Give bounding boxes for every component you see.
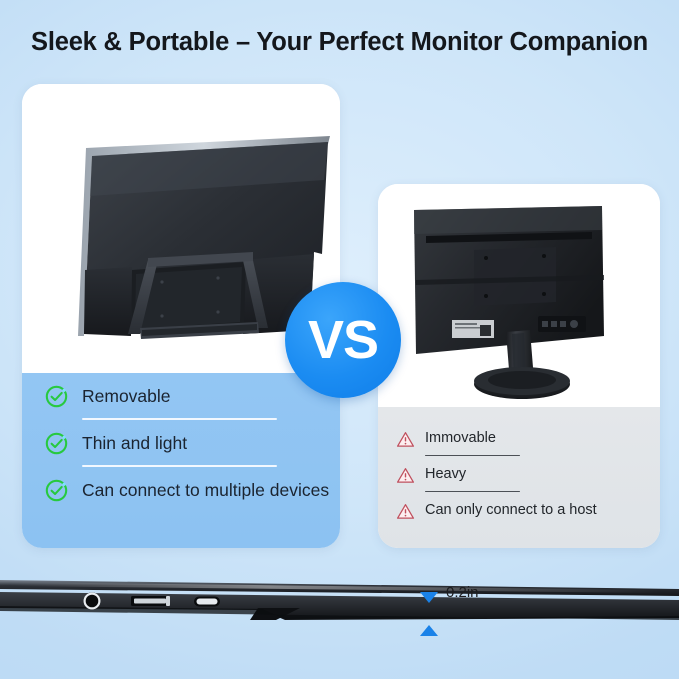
feature-item-heavy: Heavy: [378, 457, 660, 493]
check-circle-icon: [44, 478, 69, 503]
warning-triangle-icon: [396, 430, 415, 449]
feature-label: Can connect to multiple devices: [82, 481, 329, 500]
desktop-monitor-photo: [378, 184, 660, 407]
side-profile-view: [0, 556, 679, 679]
feature-item-single-host: Can only connect to a host: [378, 493, 660, 529]
feature-separator: [425, 455, 520, 457]
feature-separator: [425, 491, 520, 493]
desktop-feature-panel: Immovable Heavy: [378, 407, 660, 548]
portable-feature-list: Removable Thin and light: [22, 373, 340, 514]
feature-label: Immovable: [425, 431, 496, 447]
portable-feature-panel: Removable Thin and light: [22, 373, 340, 548]
vs-label: VS: [308, 313, 378, 367]
page-title: Sleek & Portable – Your Perfect Monitor …: [0, 28, 679, 57]
feature-label: Removable: [82, 387, 171, 406]
side-profile-illustration: [0, 556, 679, 679]
feature-item-multiple-devices: Can connect to multiple devices: [22, 467, 340, 514]
feature-item-removable: Removable: [22, 373, 340, 420]
feature-label: Heavy: [425, 467, 466, 483]
feature-item-immovable: Immovable: [378, 421, 660, 457]
triangle-up-icon: [420, 625, 438, 636]
feature-item-thin-and-light: Thin and light: [22, 420, 340, 467]
triangle-down-icon: [420, 592, 438, 603]
comparison-card-desktop: Immovable Heavy: [378, 184, 660, 548]
feature-label: Thin and light: [82, 434, 187, 453]
desktop-monitor-illustration: [378, 184, 660, 407]
warning-triangle-icon: [396, 502, 415, 521]
feature-label: Can only connect to a host: [425, 503, 597, 519]
warning-triangle-icon: [396, 466, 415, 485]
infographic-canvas: Sleek & Portable – Your Perfect Monitor …: [0, 0, 679, 679]
desktop-feature-list: Immovable Heavy: [378, 407, 660, 529]
vs-badge: VS: [285, 282, 401, 398]
thickness-label: 0.2in: [446, 584, 479, 601]
check-circle-icon: [44, 384, 69, 409]
check-circle-icon: [44, 431, 69, 456]
